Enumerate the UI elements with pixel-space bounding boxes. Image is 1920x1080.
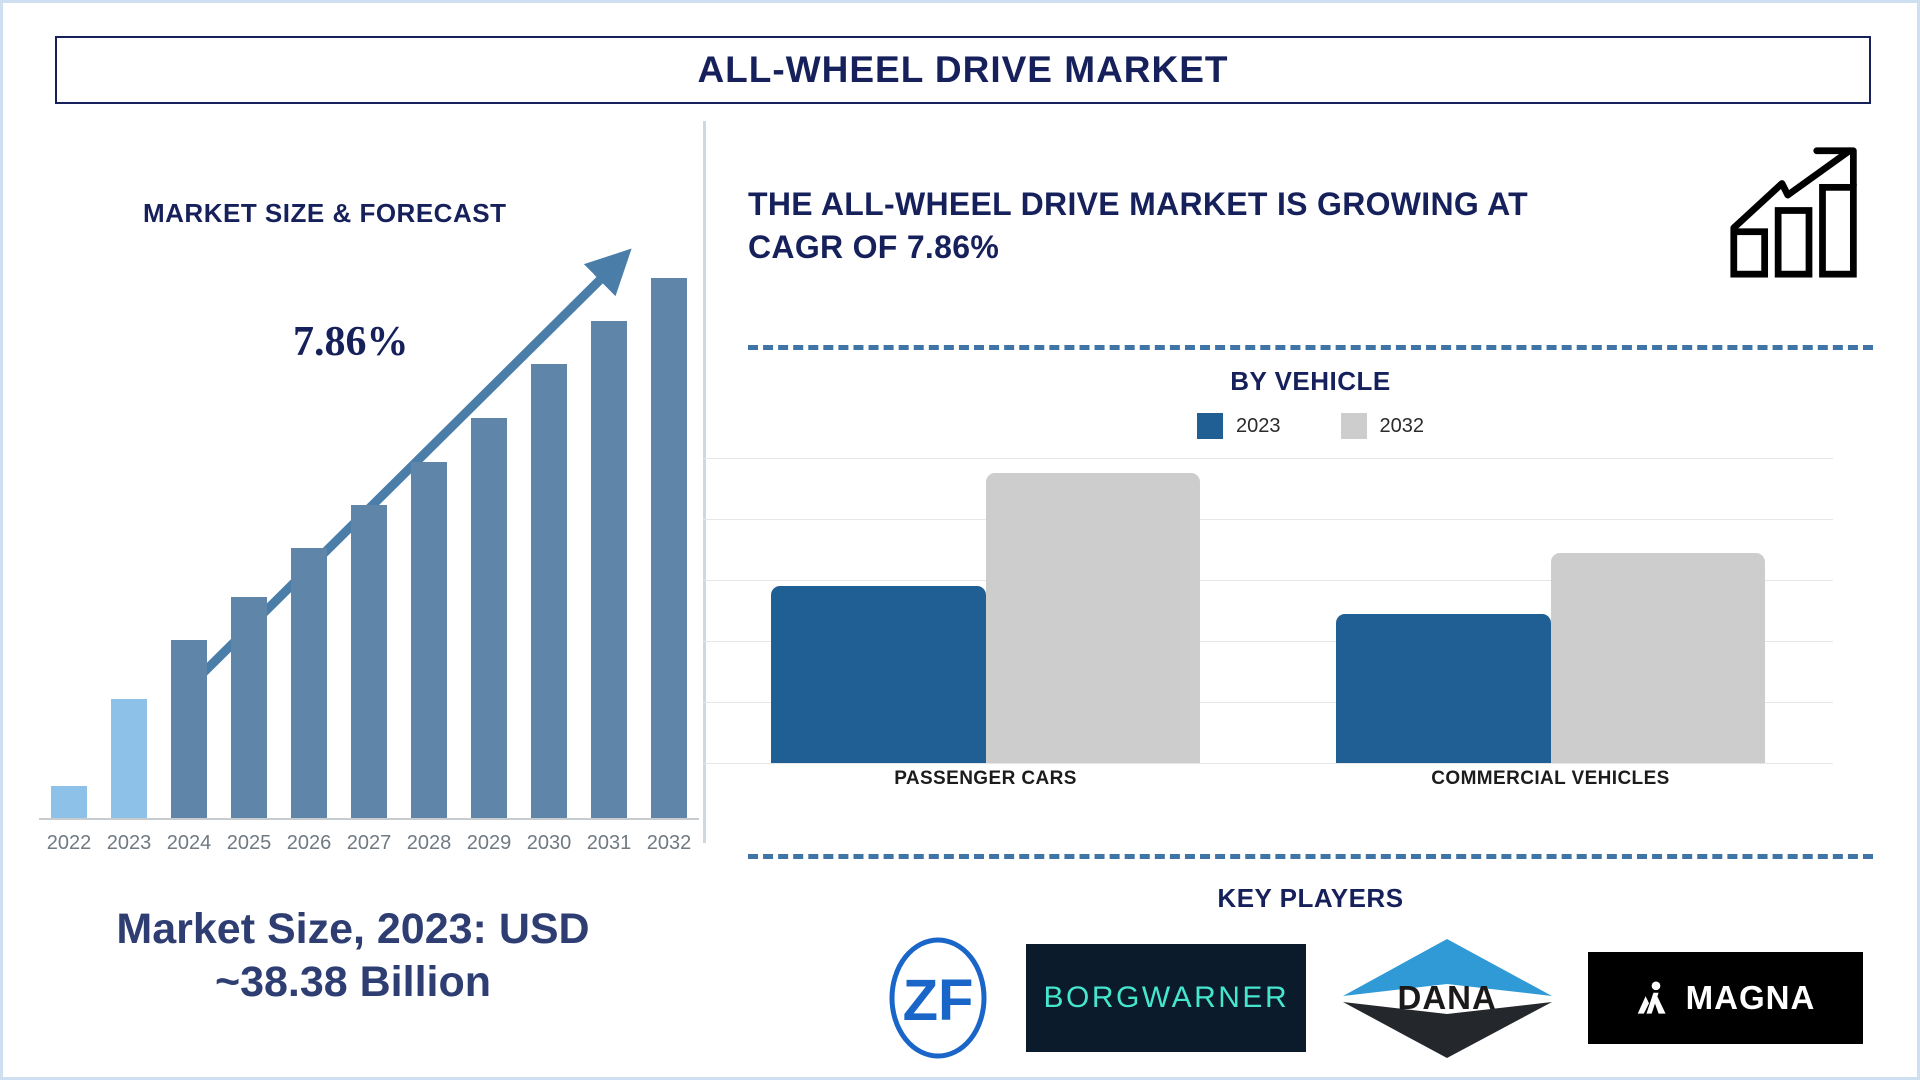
market-size-bar-slot	[639, 278, 699, 818]
logo-zf: ZF	[883, 936, 993, 1061]
market-size-year-label: 2028	[399, 832, 459, 855]
market-size-bar	[411, 462, 447, 818]
market-size-bar-slot	[39, 278, 99, 818]
key-players-logos: ZF BORGWARNER DANA	[883, 933, 1863, 1063]
legend-label: 2032	[1380, 415, 1425, 438]
zf-logo-mark: ZF	[883, 936, 993, 1061]
by-vehicle-bar	[1336, 614, 1551, 763]
by-vehicle-chart	[703, 458, 1833, 763]
market-size-year-label: 2025	[219, 832, 279, 855]
market-size-bar	[471, 418, 507, 818]
key-players-title: KEY PLAYERS	[748, 883, 1873, 914]
legend-swatch	[1197, 413, 1223, 439]
dashed-divider-bottom	[748, 854, 1873, 859]
logo-magna: MAGNA	[1588, 952, 1863, 1044]
market-size-bar	[591, 321, 627, 818]
magna-triangle-icon	[1636, 980, 1676, 1016]
by-vehicle-bars	[703, 458, 1833, 763]
market-size-bar-slot	[99, 278, 159, 818]
legend-label: 2023	[1236, 415, 1281, 438]
market-size-year-label: 2024	[159, 832, 219, 855]
zf-logo-text: ZF	[903, 968, 974, 1033]
market-size-bar-slot	[159, 278, 219, 818]
market-size-bar	[351, 505, 387, 818]
market-size-bar	[111, 699, 147, 818]
market-size-bar-slot	[399, 278, 459, 818]
borgwarner-logo-text: BORGWARNER	[1044, 981, 1290, 1015]
legend-swatch	[1341, 413, 1367, 439]
market-size-value-line2: ~38.38 Billion	[13, 956, 693, 1009]
gridline	[703, 763, 1833, 764]
market-size-bar	[231, 597, 267, 818]
market-size-bar-slot	[519, 278, 579, 818]
market-size-year-label: 2022	[39, 832, 99, 855]
by-vehicle-title: BY VEHICLE	[748, 366, 1873, 397]
market-size-bar-slot	[339, 278, 399, 818]
legend-item[interactable]: 2023	[1197, 413, 1281, 439]
cagr-headline: THE ALL-WHEEL DRIVE MARKET IS GROWING AT…	[748, 183, 1578, 269]
by-vehicle-bar	[771, 586, 986, 763]
market-size-panel: MARKET SIZE & FORECAST 7.86% 20222023202…	[3, 113, 703, 1073]
market-size-value-line1: Market Size, 2023: USD	[13, 903, 693, 956]
dana-logo-text: DANA	[1340, 979, 1555, 1017]
dashed-divider-top	[748, 345, 1873, 350]
market-size-heading: MARKET SIZE & FORECAST	[143, 198, 506, 229]
market-size-bar	[51, 786, 87, 818]
right-panel: THE ALL-WHEEL DRIVE MARKET IS GROWING AT…	[703, 113, 1920, 1080]
market-size-bar	[651, 278, 687, 818]
market-size-bar	[171, 640, 207, 818]
by-vehicle-group	[703, 458, 1268, 763]
market-size-bars	[39, 278, 699, 818]
market-size-axis-line	[39, 818, 699, 820]
market-size-bar-chart: 2022202320242025202620272028202920302031…	[39, 273, 699, 863]
by-vehicle-category-labels: PASSENGER CARSCOMMERCIAL VEHICLES	[703, 768, 1833, 790]
magna-logo-text: MAGNA	[1686, 979, 1816, 1017]
by-vehicle-legend: 20232032	[748, 413, 1873, 439]
borgwarner-logo-box: BORGWARNER	[1026, 944, 1306, 1052]
by-vehicle-category-label: PASSENGER CARS	[703, 768, 1268, 790]
by-vehicle-category-label: COMMERCIAL VEHICLES	[1268, 768, 1833, 790]
legend-item[interactable]: 2032	[1341, 413, 1425, 439]
market-size-bar-slot	[219, 278, 279, 818]
by-vehicle-bar	[986, 473, 1201, 763]
title-banner: ALL-WHEEL DRIVE MARKET	[55, 36, 1871, 104]
market-size-bar-slot	[459, 278, 519, 818]
by-vehicle-group	[1268, 458, 1833, 763]
magna-logo-box: MAGNA	[1588, 952, 1863, 1044]
market-size-year-label: 2027	[339, 832, 399, 855]
logo-dana: DANA	[1340, 936, 1555, 1061]
market-size-bar	[531, 364, 567, 818]
by-vehicle-bar	[1551, 553, 1766, 763]
market-size-bar	[291, 548, 327, 818]
market-size-year-labels: 2022202320242025202620272028202920302031…	[39, 823, 699, 863]
growth-arrow-bars-icon	[1728, 143, 1863, 278]
market-size-year-label: 2023	[99, 832, 159, 855]
dana-logo-mark: DANA	[1340, 936, 1555, 1061]
zf-icon: ZF	[883, 936, 993, 1061]
market-size-bar-slot	[279, 278, 339, 818]
market-size-year-label: 2029	[459, 832, 519, 855]
logo-borgwarner: BORGWARNER	[1026, 944, 1306, 1052]
market-size-value: Market Size, 2023: USD ~38.38 Billion	[13, 903, 693, 1009]
market-size-year-label: 2031	[579, 832, 639, 855]
market-size-year-label: 2026	[279, 832, 339, 855]
market-size-year-label: 2032	[639, 832, 699, 855]
page-title: ALL-WHEEL DRIVE MARKET	[697, 49, 1228, 91]
infographic-page: ALL-WHEEL DRIVE MARKET MARKET SIZE & FOR…	[0, 0, 1920, 1080]
market-size-year-label: 2030	[519, 832, 579, 855]
market-size-bar-slot	[579, 278, 639, 818]
